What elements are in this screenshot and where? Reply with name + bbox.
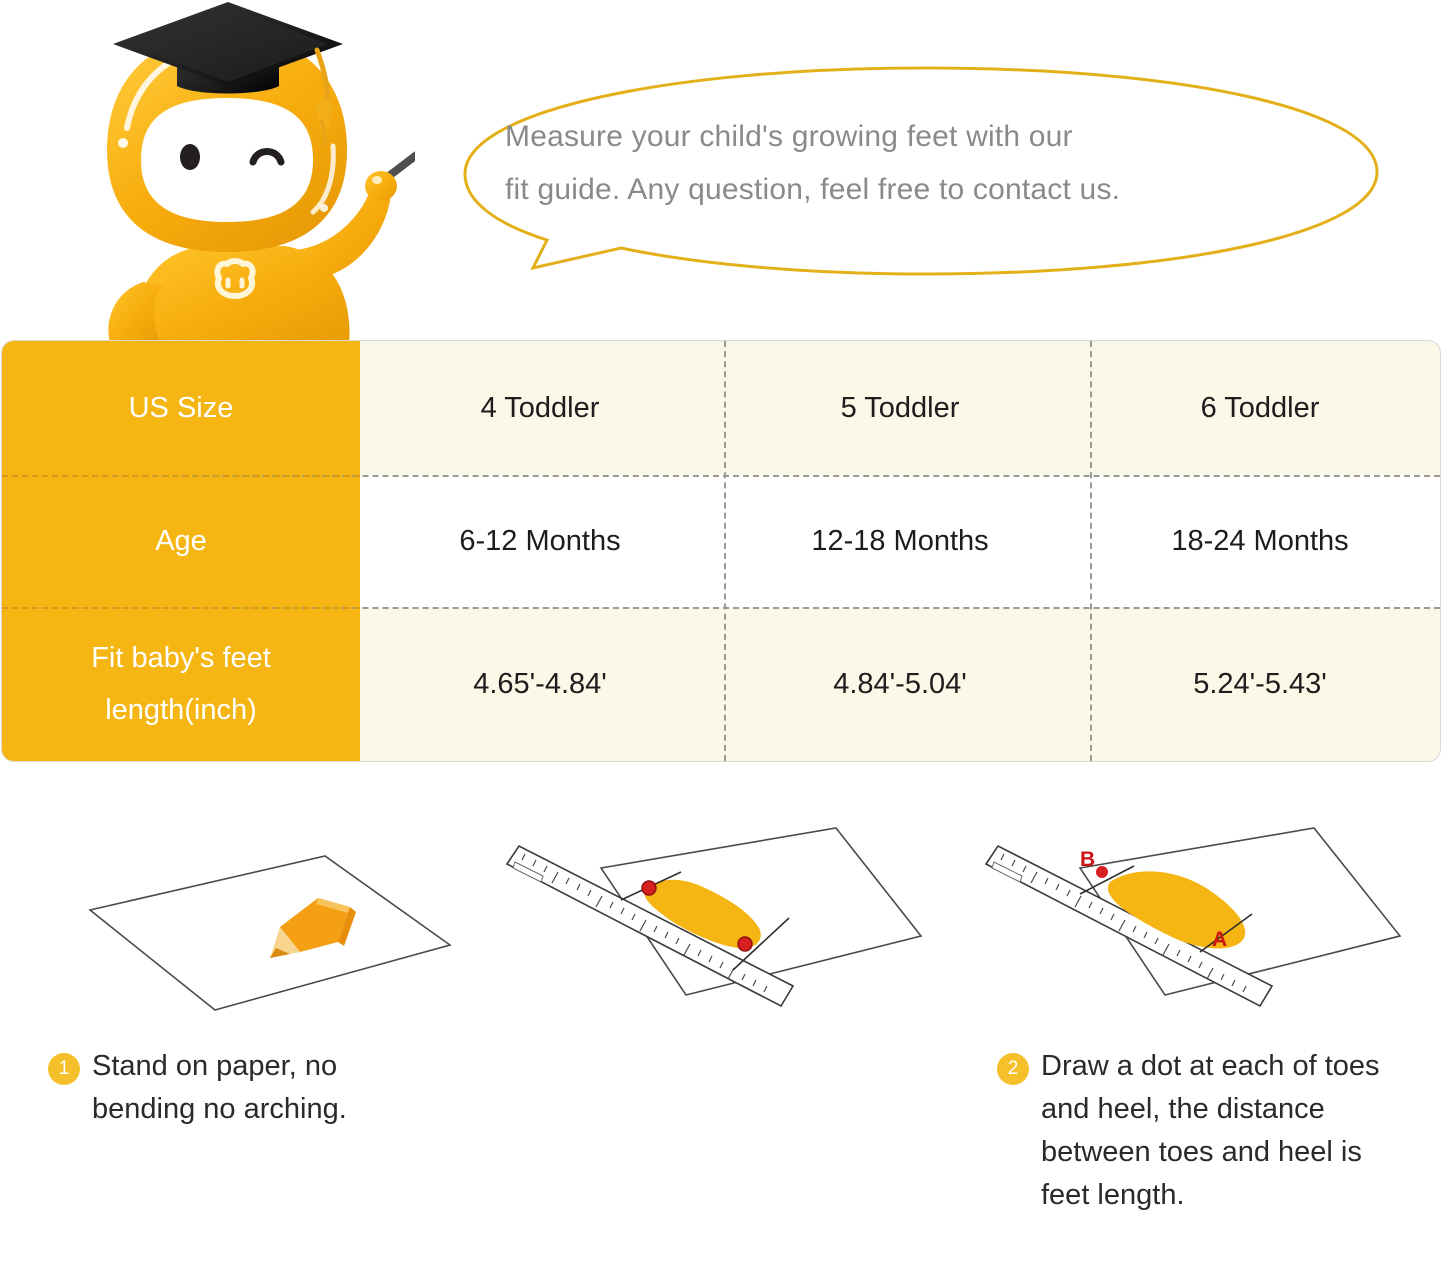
table-row: Fit baby's feet length(inch) 4.65'-4.84'… (2, 607, 1440, 761)
cell-us-size-col1: 4 Toddler (360, 341, 720, 475)
row-header-us-size: US Size (2, 341, 360, 475)
row-header-label: US Size (129, 382, 234, 434)
step-column-1: 1 Stand on paper, no bending no arching. (0, 810, 481, 1267)
step-3-illustration: B A (962, 810, 1443, 1035)
table-row: Age 6-12 Months 12-18 Months 18-24 Month… (2, 475, 1440, 607)
speech-bubble-line-1: Measure your child's growing feet with o… (505, 110, 1315, 163)
table-row: US Size 4 Toddler 5 Toddler 6 Toddler (2, 341, 1440, 475)
step-1-illustration (0, 810, 481, 1035)
table-column-divider-1 (724, 341, 726, 761)
speech-bubble-line-2: fit guide. Any question, feel free to co… (505, 163, 1315, 216)
cell-age-col2: 12-18 Months (720, 475, 1080, 607)
row-header-age: Age (2, 475, 360, 607)
paper-with-pencil-icon (0, 810, 481, 1035)
size-chart-table: US Size 4 Toddler 5 Toddler 6 Toddler Ag… (2, 341, 1440, 761)
speech-bubble-text: Measure your child's growing feet with o… (505, 110, 1315, 216)
table-row-divider-2-header (2, 607, 360, 609)
cell-age-col1: 6-12 Months (360, 475, 720, 607)
mascot-illustration (85, 0, 415, 345)
measure-steps-section: 1 Stand on paper, no bending no arching. (0, 810, 1445, 1267)
cell-us-size-col2: 5 Toddler (720, 341, 1080, 475)
mascot-svg (85, 0, 415, 345)
row-header-label-line1: Fit baby's feet (91, 632, 271, 684)
speech-bubble: Measure your child's growing feet with o… (425, 62, 1405, 292)
point-b-label: B (1080, 848, 1095, 871)
ruler-paper-foot-icon (481, 810, 962, 1035)
pointer-stick-icon (365, 118, 415, 201)
cell-us-size-col3: 6 Toddler (1080, 341, 1440, 475)
step-1-body: 1 Stand on paper, no bending no arching. (48, 1045, 448, 1131)
step-2-illustration (481, 810, 962, 1035)
cell-feet-length-col1: 4.65'-4.84' (360, 607, 720, 761)
ruler-paper-insole-icon: B A (962, 810, 1443, 1035)
step-column-3: B A 3 Find a pair of suitable shoes and … (962, 810, 1443, 1267)
step-1-number-badge: 1 (48, 1053, 80, 1085)
cell-feet-length-col2: 4.84'-5.04' (720, 607, 1080, 761)
toe-dot-marker (642, 881, 656, 895)
cell-feet-length-col3: 5.24'-5.43' (1080, 607, 1440, 761)
row-header-feet-length: Fit baby's feet length(inch) (2, 607, 360, 761)
heel-dot-marker (738, 937, 752, 951)
mascot-left-eye (180, 144, 200, 170)
step-column-2: 2 Draw a dot at each of toes and heel, t… (481, 810, 962, 1267)
point-b-dot-marker (1096, 866, 1108, 878)
row-header-label: Age (155, 515, 207, 567)
point-a-label: A (1212, 928, 1227, 951)
table-row-divider-1-header (2, 475, 360, 477)
row-header-label-line2: length(inch) (105, 684, 257, 736)
step-1-text: Stand on paper, no bending no arching. (92, 1045, 448, 1131)
table-column-divider-2 (1090, 341, 1092, 761)
cell-age-col3: 18-24 Months (1080, 475, 1440, 607)
